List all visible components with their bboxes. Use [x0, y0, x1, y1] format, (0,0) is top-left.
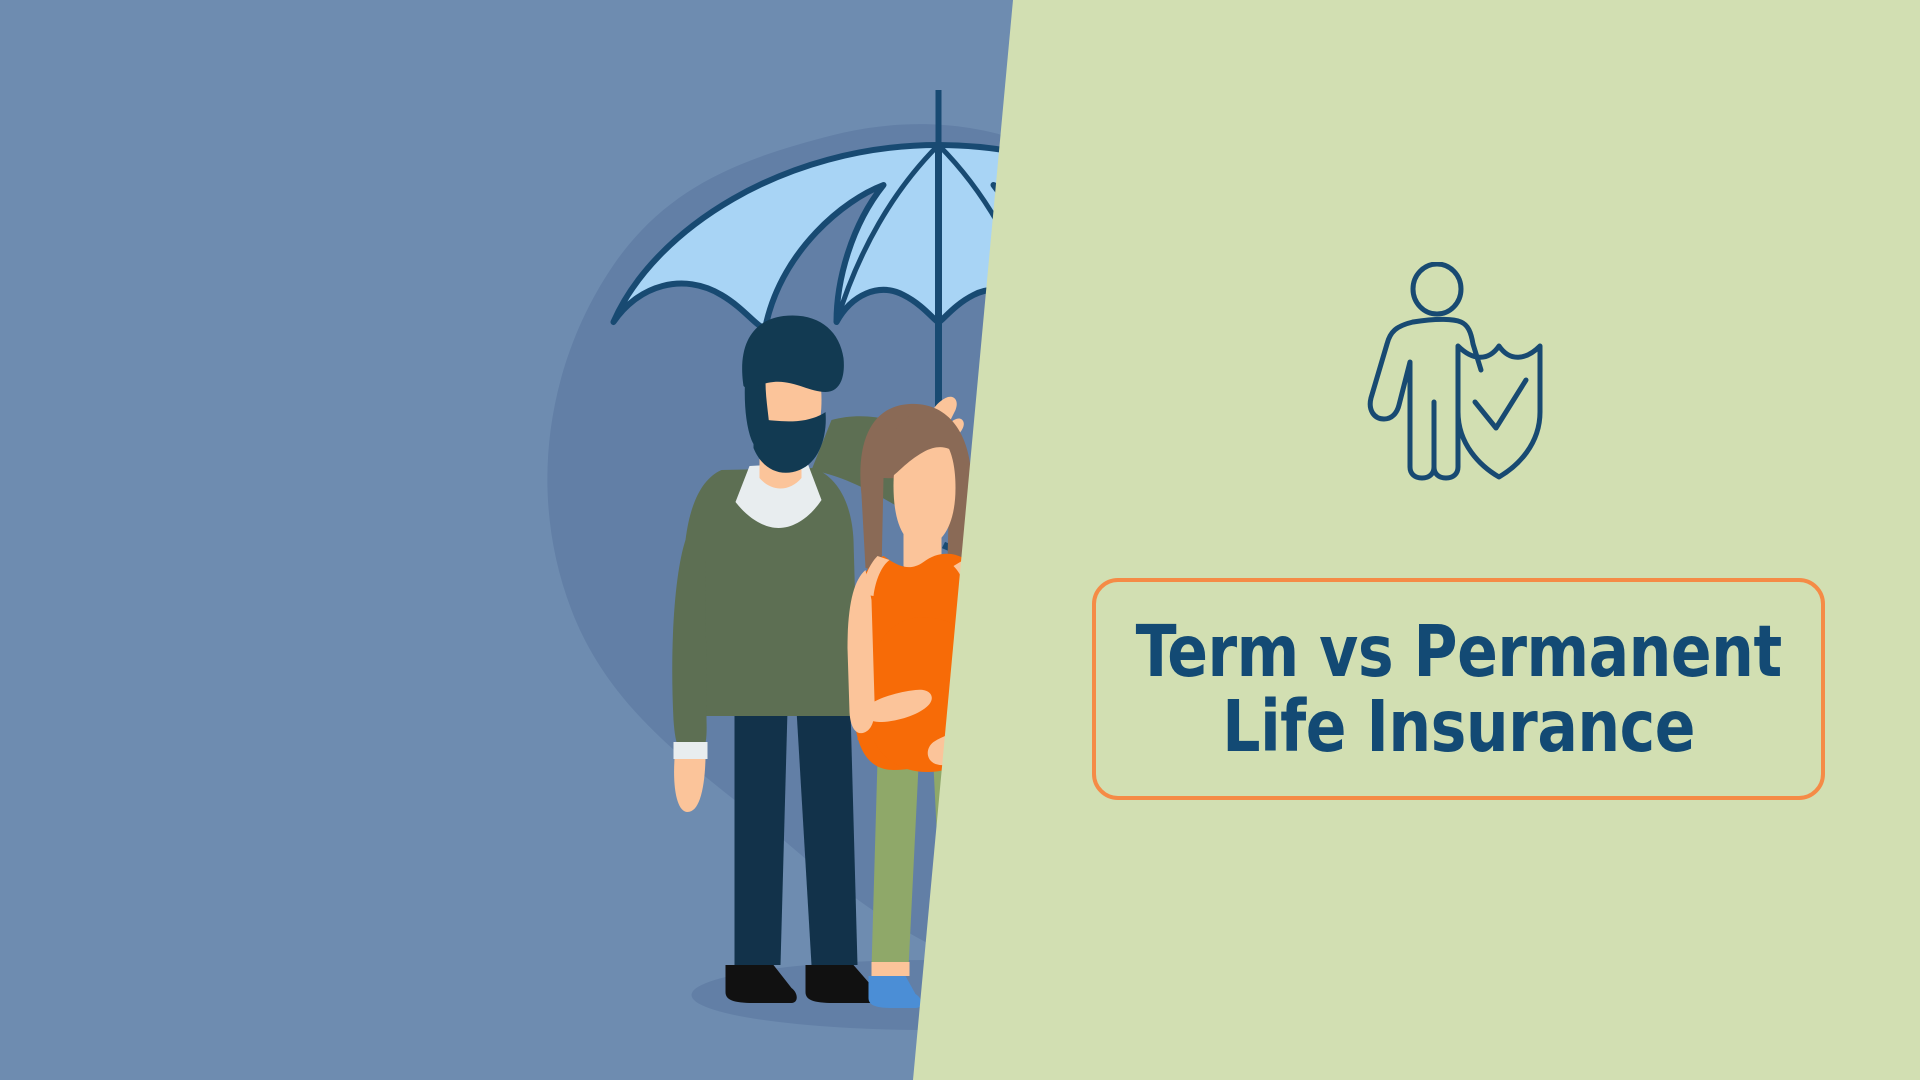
- page-title: Term vs Permanent Life Insurance: [1135, 614, 1781, 765]
- icon-shield: [1458, 346, 1540, 477]
- mother-left-ankle: [872, 962, 910, 976]
- icon-head: [1413, 264, 1461, 314]
- insurance-banner: Term vs Permanent Life Insurance: [0, 0, 1920, 1080]
- left-illustration-panel: [0, 0, 1013, 1080]
- icon-body: [1370, 322, 1458, 478]
- icon-right-shoulder: [1413, 319, 1481, 370]
- icon-checkmark: [1475, 380, 1526, 428]
- person-with-shield-icon: [1360, 262, 1560, 482]
- father-left-cuff: [674, 742, 708, 759]
- person-with-shield-glyph: [1360, 262, 1560, 482]
- title-box: Term vs Permanent Life Insurance: [1092, 578, 1825, 800]
- father-left-leg: [735, 710, 788, 965]
